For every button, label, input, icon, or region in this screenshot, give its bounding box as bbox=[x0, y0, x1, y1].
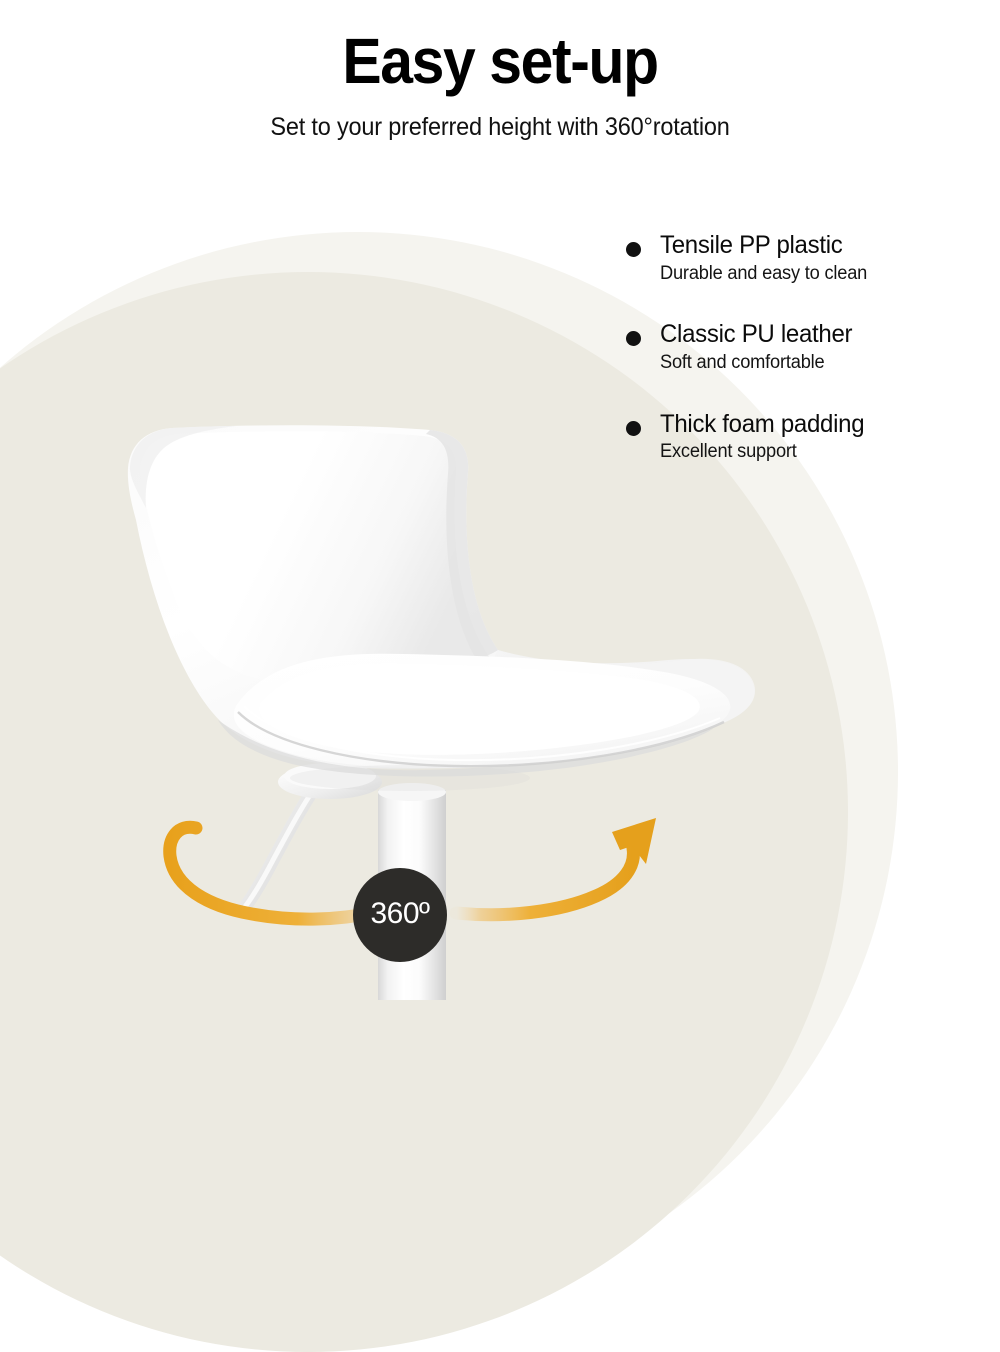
rotation-arrows bbox=[0, 0, 1000, 1000]
feature-list: Tensile PP plastic Durable and easy to c… bbox=[618, 232, 948, 464]
feature-title: Thick foam padding bbox=[660, 411, 936, 439]
feature-title: Tensile PP plastic bbox=[660, 232, 936, 260]
feature-subtitle: Excellent support bbox=[660, 438, 936, 464]
rotation-badge: 360º bbox=[353, 868, 447, 962]
feature-subtitle: Durable and easy to clean bbox=[660, 260, 936, 286]
bullet-dot-icon bbox=[626, 242, 641, 257]
feature-item-classic-pu-leather: Classic PU leather Soft and comfortable bbox=[618, 321, 948, 374]
feature-item-tensile-pp-plastic: Tensile PP plastic Durable and easy to c… bbox=[618, 232, 948, 285]
counter-clockwise-rotation-arrow bbox=[170, 827, 376, 919]
page-title: Easy set-up bbox=[40, 0, 960, 93]
page-subtitle: Set to your preferred height with 360°ro… bbox=[30, 93, 970, 140]
bullet-dot-icon bbox=[626, 421, 641, 436]
feature-subtitle: Soft and comfortable bbox=[660, 349, 936, 375]
header: Easy set-up Set to your preferred height… bbox=[0, 0, 1000, 140]
bullet-dot-icon bbox=[626, 331, 641, 346]
feature-title: Classic PU leather bbox=[660, 321, 936, 349]
rotation-badge-label: 360º bbox=[370, 899, 429, 929]
product-feature-graphic: Easy set-up Set to your preferred height… bbox=[0, 0, 1000, 1000]
feature-item-thick-foam-padding: Thick foam padding Excellent support bbox=[618, 411, 948, 464]
clockwise-rotation-arrow bbox=[456, 818, 656, 915]
